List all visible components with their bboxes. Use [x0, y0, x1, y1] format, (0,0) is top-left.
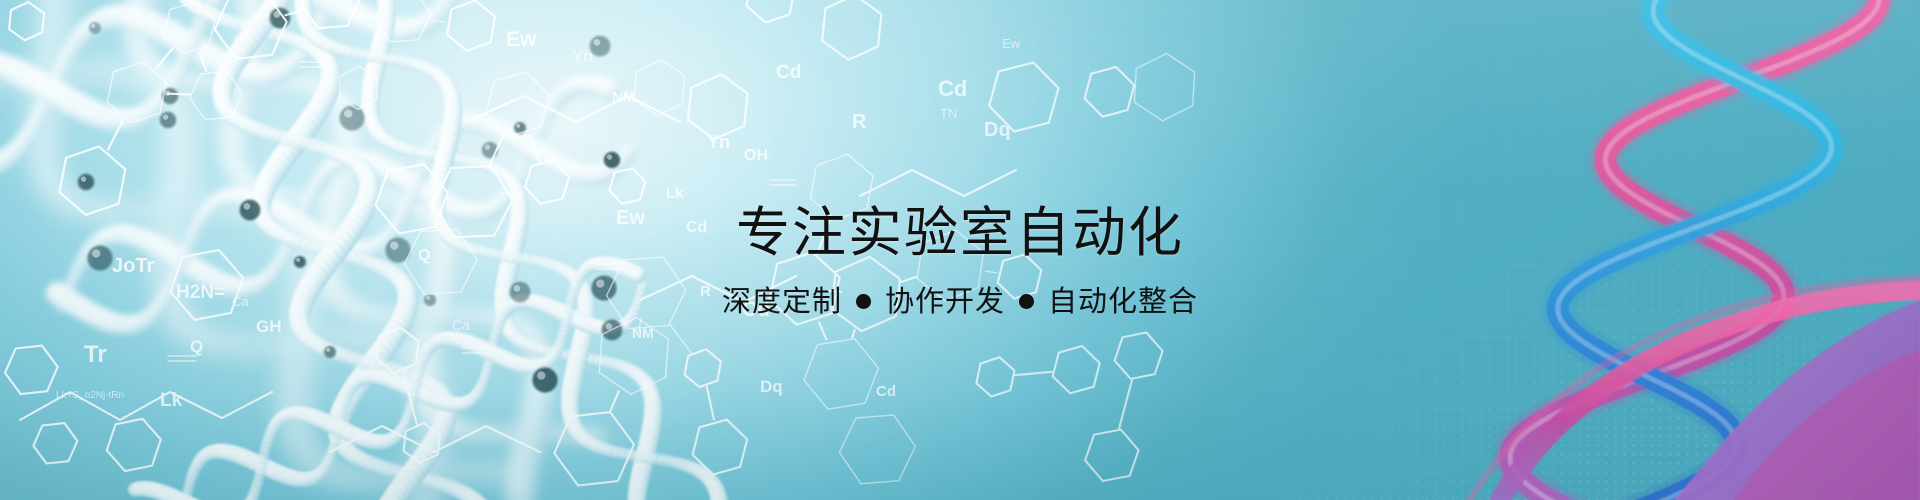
hero-banner: EwCdYnCdNMRDqYnOHEwCdLkCdTrLkJoTrH2N=GHQ…: [0, 0, 1920, 500]
colored-dna-double-helix: [0, 0, 1920, 500]
